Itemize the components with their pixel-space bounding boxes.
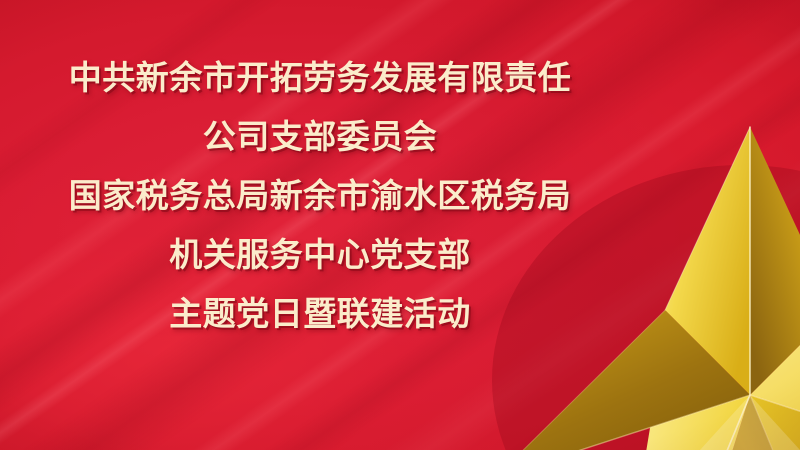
title-line-1: 中共新余市开拓劳务发展有限责任 [0, 48, 640, 107]
poster-canvas: 中共新余市开拓劳务发展有限责任 公司支部委员会 国家税务总局新余市渝水区税务局 … [0, 0, 800, 450]
title-line-3: 国家税务总局新余市渝水区税务局 [0, 166, 640, 225]
title-line-5: 主题党日暨联建活动 [0, 284, 640, 343]
title-block: 中共新余市开拓劳务发展有限责任 公司支部委员会 国家税务总局新余市渝水区税务局 … [0, 48, 640, 343]
title-line-2: 公司支部委员会 [0, 107, 640, 166]
title-line-4: 机关服务中心党支部 [0, 225, 640, 284]
